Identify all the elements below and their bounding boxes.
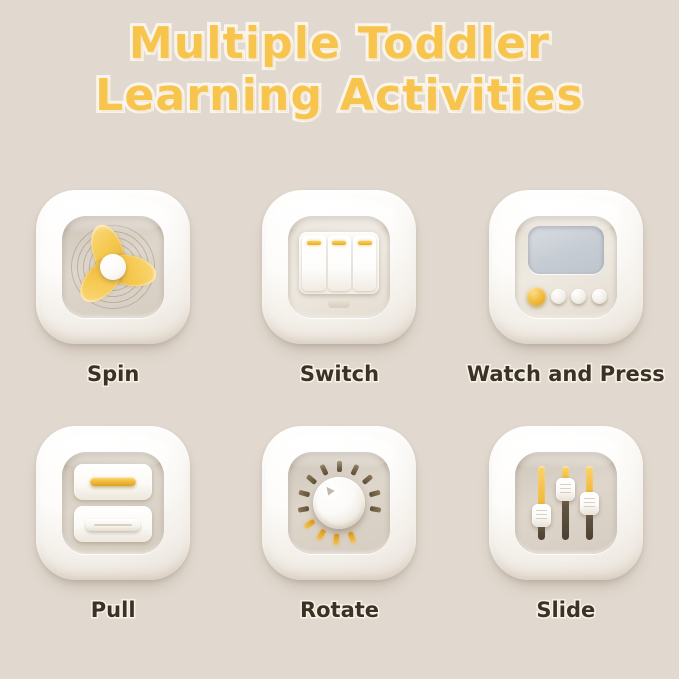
caption-switch: Switch bbox=[300, 362, 379, 386]
activity-card-slide: Slide bbox=[453, 426, 679, 662]
watch-and-press-panel bbox=[515, 216, 617, 318]
knob-pointer-icon bbox=[324, 484, 335, 495]
indicator-led-icon bbox=[358, 241, 372, 245]
dial-tick-icon bbox=[298, 490, 310, 498]
pull-drawer-bottom[interactable] bbox=[74, 506, 152, 542]
slider-track-filled bbox=[538, 466, 545, 508]
slider-bank bbox=[515, 452, 617, 554]
indicator-led-icon bbox=[307, 241, 321, 245]
caption-spin: Spin bbox=[87, 362, 139, 386]
slide-tile[interactable] bbox=[489, 426, 643, 580]
slider-thumb[interactable] bbox=[532, 504, 551, 527]
headline: Multiple Toddler Learning Activities bbox=[0, 18, 679, 122]
rocker-paddle-2[interactable] bbox=[328, 235, 351, 291]
pull-drawer-top[interactable] bbox=[74, 464, 152, 500]
dial-tick-icon bbox=[319, 464, 328, 476]
switch-bottom-tab bbox=[328, 301, 350, 308]
activity-card-rotate: Rotate bbox=[226, 426, 452, 662]
spin-tile[interactable] bbox=[36, 190, 190, 344]
dial-tick-icon bbox=[298, 506, 310, 513]
activity-grid: Spin Switch bbox=[0, 190, 679, 662]
round-button-2[interactable] bbox=[551, 289, 566, 304]
round-button-1[interactable] bbox=[527, 287, 546, 306]
button-row bbox=[527, 287, 607, 306]
pull-tile[interactable] bbox=[36, 426, 190, 580]
dial-tick-icon bbox=[369, 490, 381, 498]
activity-card-pull: Pull bbox=[0, 426, 226, 662]
dial-tick-icon bbox=[370, 506, 382, 513]
activity-card-switch: Switch bbox=[226, 190, 452, 426]
pull-handle-icon[interactable] bbox=[90, 477, 136, 486]
dial-tick-icon bbox=[333, 534, 339, 545]
dial-tick-icon bbox=[337, 461, 342, 472]
slider-thumb[interactable] bbox=[556, 478, 575, 501]
display-screen-icon bbox=[528, 226, 604, 274]
dial-tick-icon bbox=[316, 529, 326, 541]
indicator-led-icon bbox=[332, 241, 346, 245]
switch-tile[interactable] bbox=[262, 190, 416, 344]
headline-line-2: Learning Activities bbox=[0, 70, 679, 122]
dial-tick-icon bbox=[304, 519, 316, 529]
slider-middle[interactable] bbox=[561, 466, 570, 540]
rocker-paddle-1[interactable] bbox=[302, 235, 325, 291]
fan-hub-icon bbox=[100, 254, 126, 280]
rocker-switch-icon[interactable] bbox=[299, 232, 379, 294]
pull-panel bbox=[62, 452, 164, 554]
dial-tick-icon bbox=[348, 531, 356, 543]
caption-pull: Pull bbox=[91, 598, 136, 622]
activity-card-watch-and-press: Watch and Press bbox=[453, 190, 679, 426]
rocker-paddle-3[interactable] bbox=[353, 235, 376, 291]
caption-slide: Slide bbox=[536, 598, 595, 622]
rotate-tile[interactable] bbox=[262, 426, 416, 580]
slide-panel bbox=[515, 452, 617, 554]
watch-and-press-tile[interactable] bbox=[489, 190, 643, 344]
switch-panel bbox=[288, 216, 390, 318]
slider-right[interactable] bbox=[585, 466, 594, 540]
dial-tick-icon bbox=[350, 464, 359, 476]
knob-assembly bbox=[288, 452, 390, 554]
pull-handle-icon[interactable] bbox=[86, 519, 140, 531]
caption-watch-and-press: Watch and Press bbox=[467, 362, 665, 386]
dial-tick-icon bbox=[306, 474, 318, 485]
dial-tick-icon bbox=[362, 474, 374, 485]
slider-thumb[interactable] bbox=[580, 492, 599, 515]
slider-left[interactable] bbox=[537, 466, 546, 540]
rotate-panel bbox=[288, 452, 390, 554]
spin-panel bbox=[62, 216, 164, 318]
headline-line-1: Multiple Toddler bbox=[0, 18, 679, 70]
caption-rotate: Rotate bbox=[300, 598, 379, 622]
activity-card-spin: Spin bbox=[0, 190, 226, 426]
round-button-3[interactable] bbox=[571, 289, 586, 304]
round-button-4[interactable] bbox=[592, 289, 607, 304]
rotary-knob-icon[interactable] bbox=[313, 477, 365, 529]
